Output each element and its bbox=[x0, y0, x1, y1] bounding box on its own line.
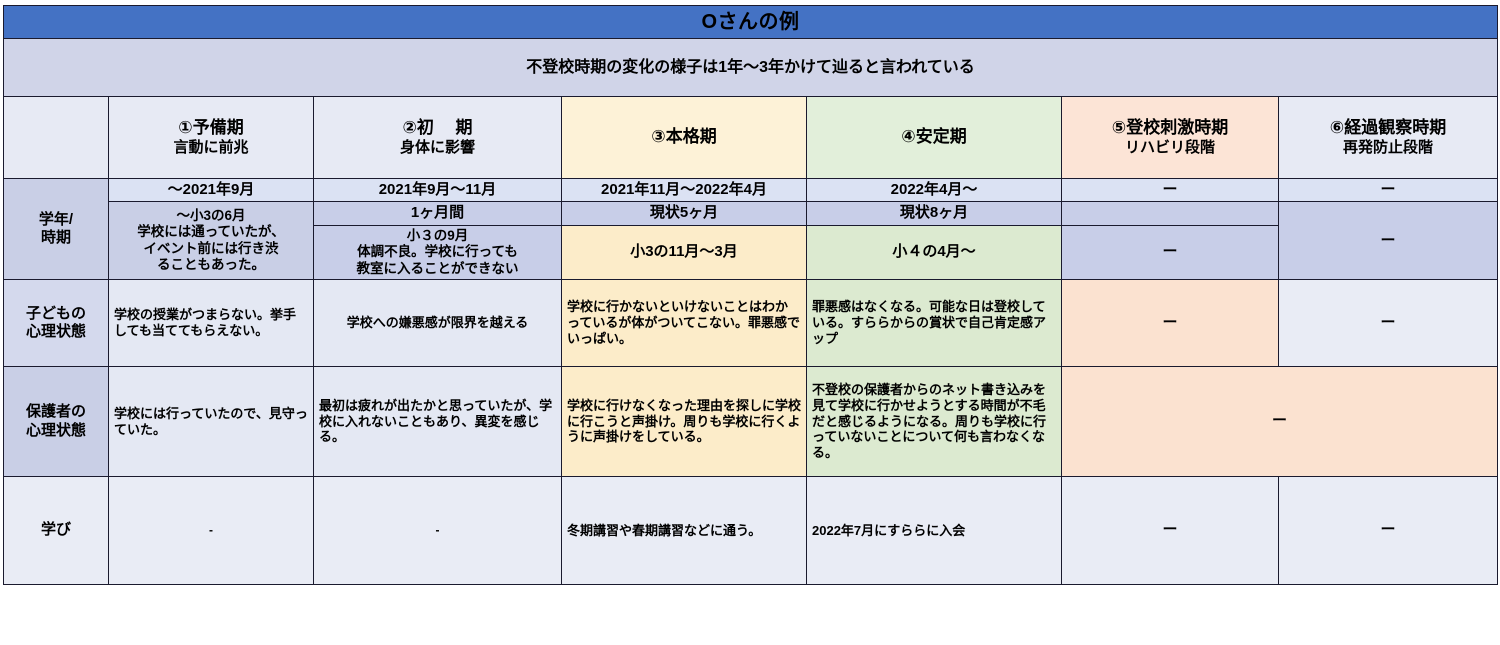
column-header-stage4: ④安定期 bbox=[807, 97, 1062, 179]
column-header-stage6: ⑥経過観察時期 再発防止段階 bbox=[1279, 97, 1498, 179]
column-header-row: ①予備期 言動に前兆 ②初 期 身体に影響 ③本格期 ④安定期 ⑤登校刺激時期 … bbox=[4, 97, 1498, 179]
child-psychology-stage2: 学校への嫌悪感が限界を越える bbox=[314, 280, 562, 367]
child-psychology-stage5: ー bbox=[1062, 280, 1279, 367]
parent-psychology-stage5-6: ー bbox=[1062, 367, 1498, 477]
stage6-sublabel: 再発防止段階 bbox=[1284, 139, 1492, 157]
period-detail-stage6: ー bbox=[1279, 202, 1498, 280]
child-psychology-stage1: 学校の授業がつまらない。挙手しても当ててもらえない。 bbox=[109, 280, 314, 367]
learning-stage4: 2022年7月にすららに入会 bbox=[807, 477, 1062, 585]
stage1-sublabel: 言動に前兆 bbox=[114, 139, 308, 157]
stage4-label: ④安定期 bbox=[812, 127, 1056, 148]
parent-psychology-stage1: 学校には行っていたので、見守っていた。 bbox=[109, 367, 314, 477]
example-table-sheet: Oさんの例 不登校時期の変化の様子は1年〜3年かけて辿ると言われている ①予備期… bbox=[0, 5, 1500, 645]
row-label-child-psychology: 子どもの 心理状態 bbox=[4, 280, 109, 367]
parent-psychology-stage2: 最初は疲れが出たかと思っていたが、学校に入れないこともあり、異変を感じる。 bbox=[314, 367, 562, 477]
learning-stage5: ー bbox=[1062, 477, 1279, 585]
nonattendance-phase-table: Oさんの例 不登校時期の変化の様子は1年〜3年かけて辿ると言われている ①予備期… bbox=[3, 5, 1498, 585]
stage5-sublabel: リハビリ段階 bbox=[1067, 139, 1273, 157]
child-psychology-stage3: 学校に行かないといけないことはわかっているが体がついてこない。罪悪感でいっぱい。 bbox=[562, 280, 807, 367]
period-duration-stage5 bbox=[1062, 202, 1279, 225]
period-date-stage1: 〜2021年9月 bbox=[109, 179, 314, 202]
period-detail-stage4: 小４の4月〜 bbox=[807, 225, 1062, 279]
period-date-stage5: ー bbox=[1062, 179, 1279, 202]
row-label-period: 学年/ 時期 bbox=[4, 179, 109, 280]
period-duration-stage4: 現状8ヶ月 bbox=[807, 202, 1062, 225]
corner-cell bbox=[4, 97, 109, 179]
page-title: Oさんの例 bbox=[4, 6, 1498, 39]
period-date-stage2: 2021年9月〜11月 bbox=[314, 179, 562, 202]
learning-stage3: 冬期講習や春期講習などに通う。 bbox=[562, 477, 807, 585]
period-detail-stage1: 〜小3の6月 学校には通っていたが、 イベント前には行き渋 ることもあった。 bbox=[109, 202, 314, 280]
subtitle-banner: 不登校時期の変化の様子は1年〜3年かけて辿ると言われている bbox=[4, 39, 1498, 97]
title-row: Oさんの例 bbox=[4, 6, 1498, 39]
row-label-parent-psychology: 保護者の 心理状態 bbox=[4, 367, 109, 477]
stage3-label: ③本格期 bbox=[567, 127, 801, 148]
stage6-label: ⑥経過観察時期 bbox=[1284, 118, 1492, 139]
period-detail-stage2: 小３の9月 体調不良。学校に行っても 教室に入ることができない bbox=[314, 225, 562, 279]
stage5-label: ⑤登校刺激時期 bbox=[1067, 118, 1273, 139]
column-header-stage5: ⑤登校刺激時期 リハビリ段階 bbox=[1062, 97, 1279, 179]
column-header-stage3: ③本格期 bbox=[562, 97, 807, 179]
period-duration-row: 〜小3の6月 学校には通っていたが、 イベント前には行き渋 ることもあった。 1… bbox=[4, 202, 1498, 225]
column-header-stage2: ②初 期 身体に影響 bbox=[314, 97, 562, 179]
learning-row: 学び - - 冬期講習や春期講習などに通う。 2022年7月にすららに入会 ー … bbox=[4, 477, 1498, 585]
learning-stage1: - bbox=[109, 477, 314, 585]
stage2-sublabel: 身体に影響 bbox=[319, 139, 556, 157]
stage2-label: ②初 期 bbox=[319, 118, 556, 139]
child-psychology-row: 子どもの 心理状態 学校の授業がつまらない。挙手しても当ててもらえない。 学校へ… bbox=[4, 280, 1498, 367]
child-psychology-stage6: ー bbox=[1279, 280, 1498, 367]
period-duration-stage2: 1ヶ月間 bbox=[314, 202, 562, 225]
learning-stage2: - bbox=[314, 477, 562, 585]
parent-psychology-row: 保護者の 心理状態 学校には行っていたので、見守っていた。 最初は疲れが出たかと… bbox=[4, 367, 1498, 477]
row-label-learning: 学び bbox=[4, 477, 109, 585]
stage1-label: ①予備期 bbox=[114, 118, 308, 139]
period-dates-row: 学年/ 時期 〜2021年9月 2021年9月〜11月 2021年11月〜202… bbox=[4, 179, 1498, 202]
period-detail-stage3: 小3の11月〜3月 bbox=[562, 225, 807, 279]
period-detail-stage5: ー bbox=[1062, 225, 1279, 279]
parent-psychology-stage3: 学校に行けなくなった理由を探しに学校に行こうと声掛け。周りも学校に行くように声掛… bbox=[562, 367, 807, 477]
period-duration-stage3: 現状5ヶ月 bbox=[562, 202, 807, 225]
period-date-stage3: 2021年11月〜2022年4月 bbox=[562, 179, 807, 202]
parent-psychology-stage4: 不登校の保護者からのネット書き込みを見て学校に行かせようとする時間が不毛だと感じ… bbox=[807, 367, 1062, 477]
learning-stage6: ー bbox=[1279, 477, 1498, 585]
period-date-stage6: ー bbox=[1279, 179, 1498, 202]
subtitle-row: 不登校時期の変化の様子は1年〜3年かけて辿ると言われている bbox=[4, 39, 1498, 97]
column-header-stage1: ①予備期 言動に前兆 bbox=[109, 97, 314, 179]
child-psychology-stage4: 罪悪感はなくなる。可能な日は登校している。すららからの賞状で自己肯定感アップ bbox=[807, 280, 1062, 367]
period-date-stage4: 2022年4月〜 bbox=[807, 179, 1062, 202]
